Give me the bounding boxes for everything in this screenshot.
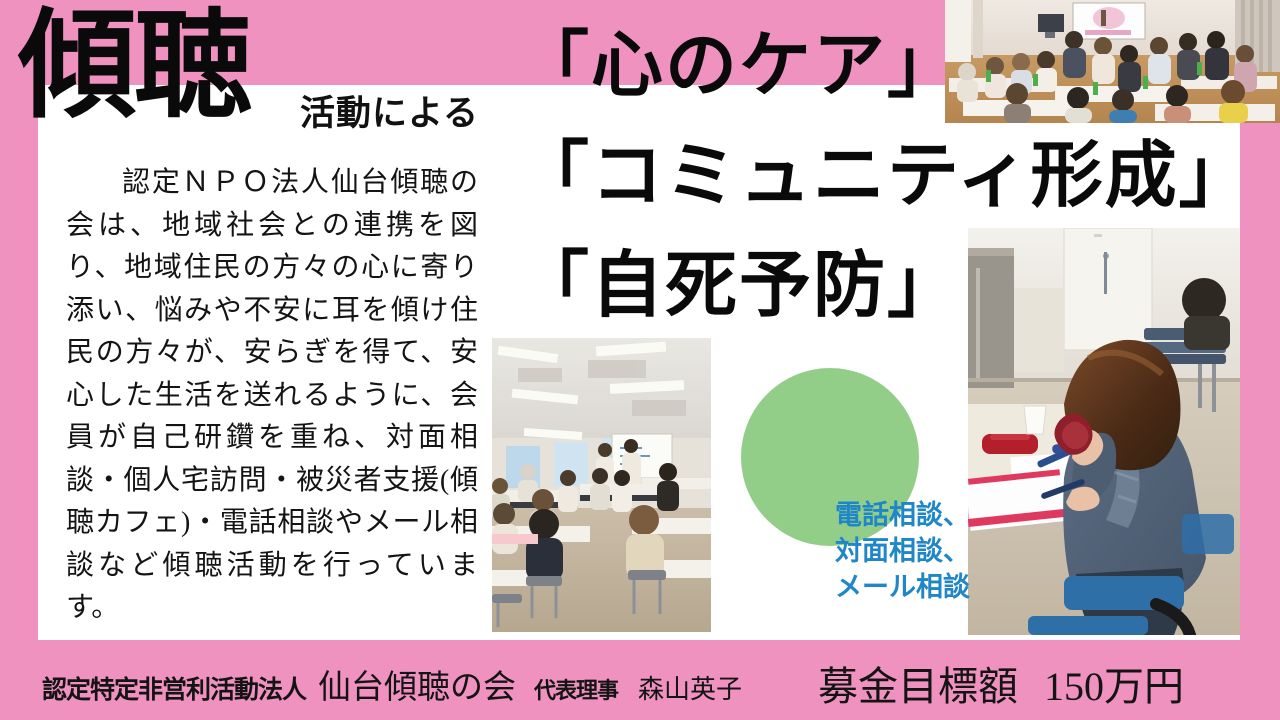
service-list: 電話相談、 対面相談、 メール相談 [755, 498, 970, 606]
service-line-2: 対面相談、 [755, 534, 970, 570]
poster-slide: 電話相談、 対面相談、 メール相談 傾聴 活動による 「心のケア」 「コミュニテ… [0, 0, 1280, 720]
goal-label: 募金目標額 [818, 664, 1018, 709]
slogan-community-keisei: 「コミュニティ形成」 [517, 140, 1253, 212]
lecture-room-image [492, 338, 711, 632]
goal-amount: 150万円 [1044, 664, 1184, 709]
phone-counselling-image [968, 228, 1240, 635]
service-line-1: 電話相談、 [755, 498, 970, 534]
lecture-room-photo [492, 338, 711, 632]
seminar-room-image [945, 0, 1280, 123]
phone-counselling-photo [968, 228, 1240, 635]
donation-goal: 募金目標額150万円 [818, 654, 1184, 712]
page-subtitle: 活動による [300, 96, 479, 131]
org-person: 森山英子 [638, 674, 742, 704]
page-title: 傾聴 [18, 8, 250, 126]
org-role: 代表理事 [534, 678, 618, 703]
description-block: 認定ＮＰＯ法人仙台傾聴の会は、地域社会との連携を図り、地域住民の方々の心に寄り添… [66, 162, 478, 630]
slogan-jishi-yobou: 「自死予防」 [517, 250, 961, 322]
org-prefix: 認定特定非営利活動法人 [42, 676, 306, 704]
description-paragraph: 認定ＮＰＯ法人仙台傾聴の会は、地域社会との連携を図り、地域住民の方々の心に寄り添… [66, 162, 478, 630]
organization-credit: 認定特定非営利活動法人仙台傾聴の会代表理事森山英子 [42, 660, 742, 708]
slogan-kokoro-no-care: 「心のケア」 [517, 30, 961, 102]
seminar-room-photo [945, 0, 1280, 123]
org-name: 仙台傾聴の会 [318, 668, 516, 705]
service-line-3: メール相談 [755, 570, 970, 606]
